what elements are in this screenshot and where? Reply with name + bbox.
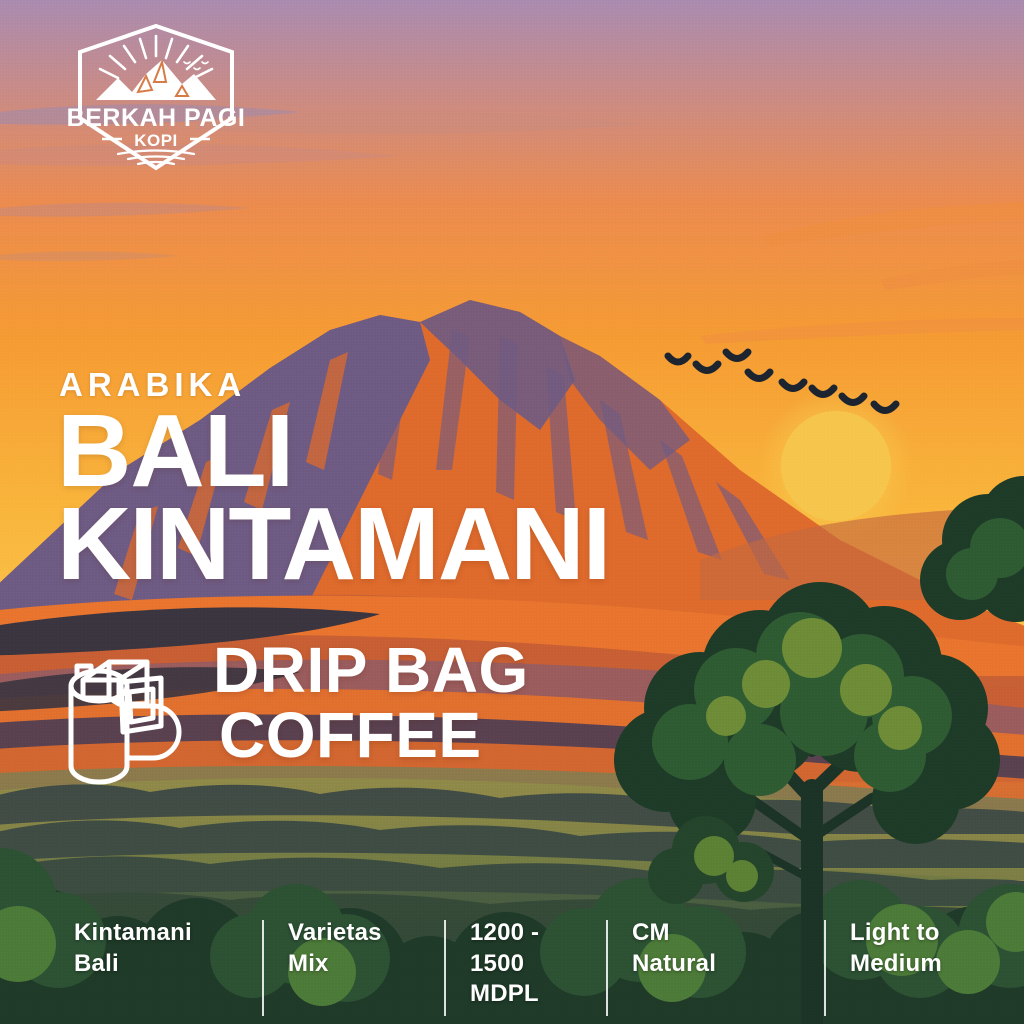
headline-block: ARABIKA BALI KINTAMANI	[57, 368, 609, 590]
product-title-line2: KINTAMANI	[57, 498, 609, 591]
spec-divider	[606, 920, 608, 1016]
logo-wordmark: BERKAH PAGI	[67, 104, 246, 132]
spec-divider	[444, 920, 446, 1016]
spec-divider	[262, 920, 264, 1016]
format-line2: COFFEE	[219, 703, 529, 768]
spec-variety: Varietas Mix	[262, 918, 444, 979]
spec-origin-text: Kintamani Bali	[74, 918, 192, 979]
product-poster: BERKAH PAGI KOPI ARABIKA BALI KINTAMANI	[0, 0, 1024, 1024]
product-format-text: DRIP BAG COFFEE	[213, 636, 529, 769]
spec-process: CM Natural	[606, 918, 824, 979]
brand-logo: BERKAH PAGI KOPI	[66, 22, 246, 172]
spec-roast-level: Light to Medium	[824, 918, 1002, 979]
specification-bar: Kintamani Bali Varietas Mix 1200 - 1500 …	[0, 896, 1024, 1024]
logo-ripple	[118, 151, 194, 165]
logo-subword: KOPI	[134, 131, 178, 150]
product-title-line1: BALI	[57, 405, 609, 498]
logo-mountain	[96, 60, 216, 100]
spec-roast-level-text: Light to Medium	[850, 918, 942, 979]
product-format-block: DRIP BAG COFFEE	[57, 636, 529, 788]
spec-origin: Kintamani Bali	[22, 918, 262, 979]
spec-variety-text: Varietas Mix	[288, 918, 382, 979]
drip-bag-mug-icon	[57, 640, 197, 788]
spec-altitude-text: 1200 - 1500 MDPL	[470, 918, 539, 1010]
spec-process-text: CM Natural	[632, 918, 716, 979]
format-line1: DRIP BAG	[213, 638, 529, 703]
spec-divider	[824, 920, 826, 1016]
spec-altitude: 1200 - 1500 MDPL	[444, 918, 606, 1010]
sun	[781, 411, 891, 521]
